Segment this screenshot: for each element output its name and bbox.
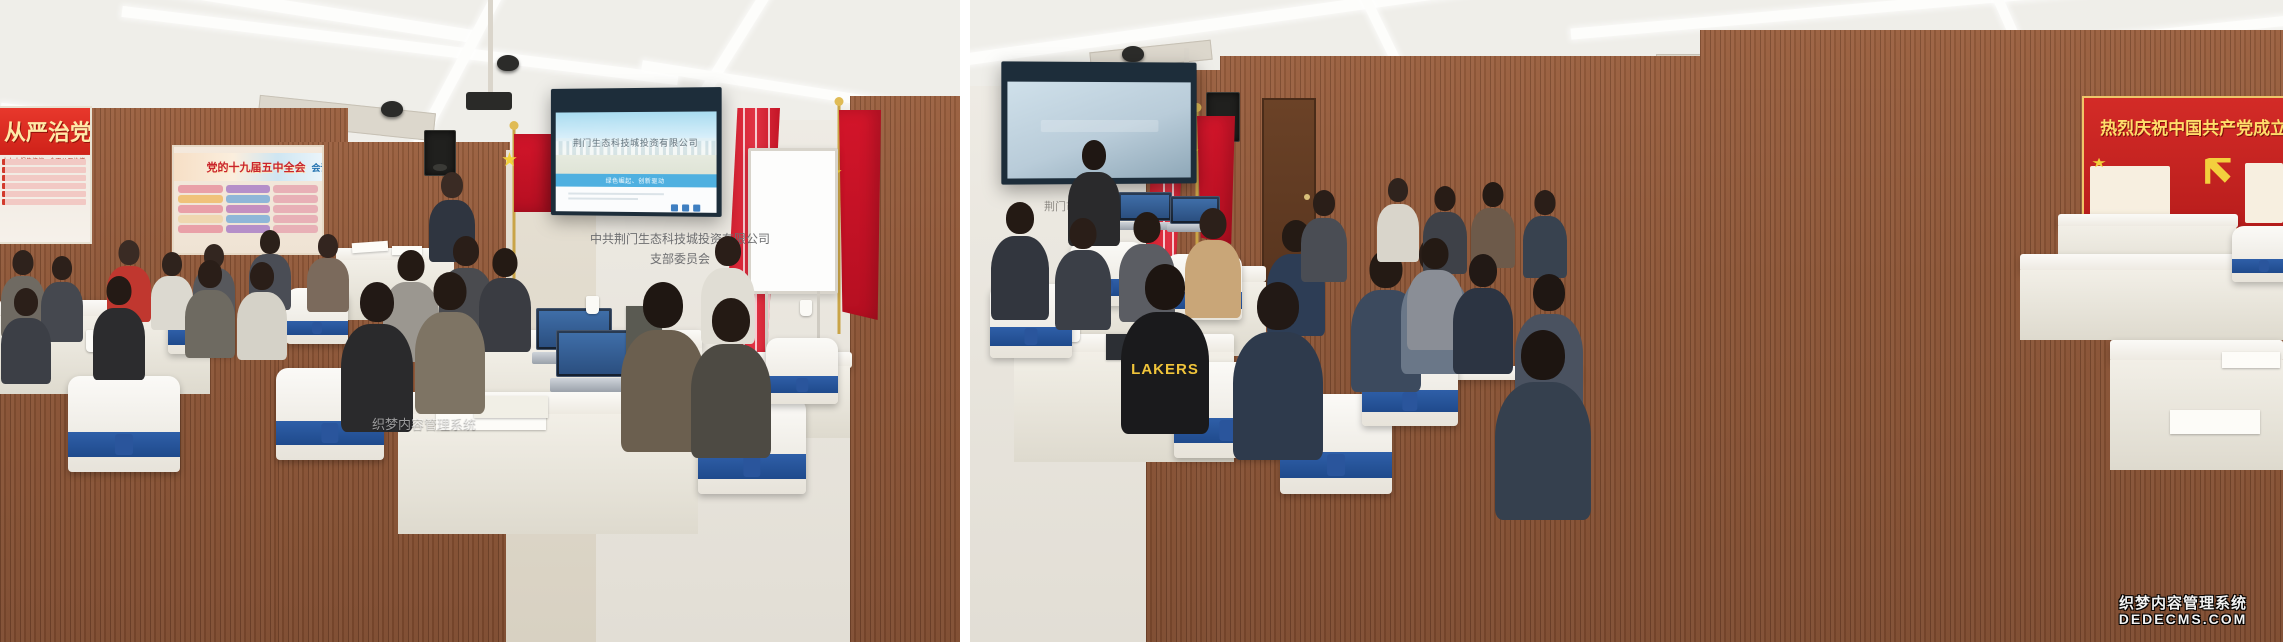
whiteboard [748,148,838,294]
photo-divider [960,0,970,642]
jacket-text: LAKERS [1131,361,1199,378]
papers [2170,410,2260,434]
attendee [414,272,486,414]
poster-title: 从严治党 [0,115,90,147]
projector-mount [488,0,493,96]
right-photo: 热烈庆祝中国共产党成立100周年 荆门市… [970,0,2283,642]
attendee [478,248,532,352]
board-title-blue: 会议公报 · 学习 [312,161,324,174]
board-title-red: 党的十九届五中全会 [174,159,306,175]
dome-camera-icon [381,101,403,117]
attendee [1494,330,1592,520]
photo-pair-stage: 从严治党 十九大报告摘编 · 全面从严治党 党的十九届五中全会 会议公报 · 学… [0,0,2283,642]
projector-icon [466,92,512,110]
projection-screen-frame: 荆门生态科技城投资有限公司 绿色崛起、创新驱动 [551,87,722,217]
attendee [1522,190,1568,278]
dome-camera-icon [1122,46,1144,62]
projection-screen-surface: 荆门生态科技城投资有限公司 绿色崛起、创新驱动 [556,111,717,212]
attendee [340,282,414,432]
slide-title: 荆门生态科技城投资有限公司 [565,135,707,148]
slide-hero-image: 荆门生态科技城投资有限公司 [556,111,717,174]
watermark: 织梦内容管理系统 DEDECMS.COM [2090,596,2276,626]
attendee [236,262,288,360]
slide-banner: 绿色崛起、创新驱动 [556,174,717,188]
left-photo: 从严治党 十九大报告摘编 · 全面从严治党 党的十九届五中全会 会议公报 · 学… [0,0,960,642]
attendee [92,276,146,380]
board-title: 党的十九届五中全会 会议公报 · 学习 [174,153,322,181]
wall-caption-line1: 中共荆门生态科技城投资有限公司 [560,230,800,247]
celebration-banner: 热烈庆祝中国共产党成立100周年 [2082,96,2283,230]
cup [586,296,599,314]
celebration-banner-text: 热烈庆祝中国共产党成立100周年 [2100,114,2283,139]
attendee [690,298,772,458]
attendee [1300,190,1348,282]
slide: 荆门生态科技城投资有限公司 绿色崛起、创新驱动 [556,111,717,212]
attendee [0,288,52,384]
slide-banner-text: 绿色崛起、创新驱动 [606,176,665,185]
wall-speaker [424,130,456,176]
chair [68,376,180,472]
cup [800,300,812,316]
party-emblem-icon [2205,158,2231,184]
wall-caption-line2: 支部委员会 [560,250,800,267]
chair [2232,226,2283,282]
watermark-en: DEDECMS.COM [2090,612,2276,627]
attendee [1232,282,1324,460]
chair [766,338,838,404]
dome-camera-icon [497,55,519,71]
poster-header: 从严治党 [0,108,90,154]
watermark-cn: 织梦内容管理系统 [2090,596,2276,612]
banner-sub-panel [2245,163,2283,223]
attendee-lakers-jacket: LAKERS [1120,264,1210,434]
slide-glare [1041,120,1158,132]
papers [2222,352,2280,368]
poster-body [2,159,87,237]
attendee [990,202,1050,320]
soft-watermark: 织梦内容管理系统 [372,414,476,433]
attendee [184,260,236,358]
slide-logo-icon [671,204,700,211]
slide-body [556,187,717,213]
poster-strict-party-governance: 从严治党 十九大报告摘编 · 全面从严治党 [0,106,92,244]
attendee [1054,218,1112,330]
